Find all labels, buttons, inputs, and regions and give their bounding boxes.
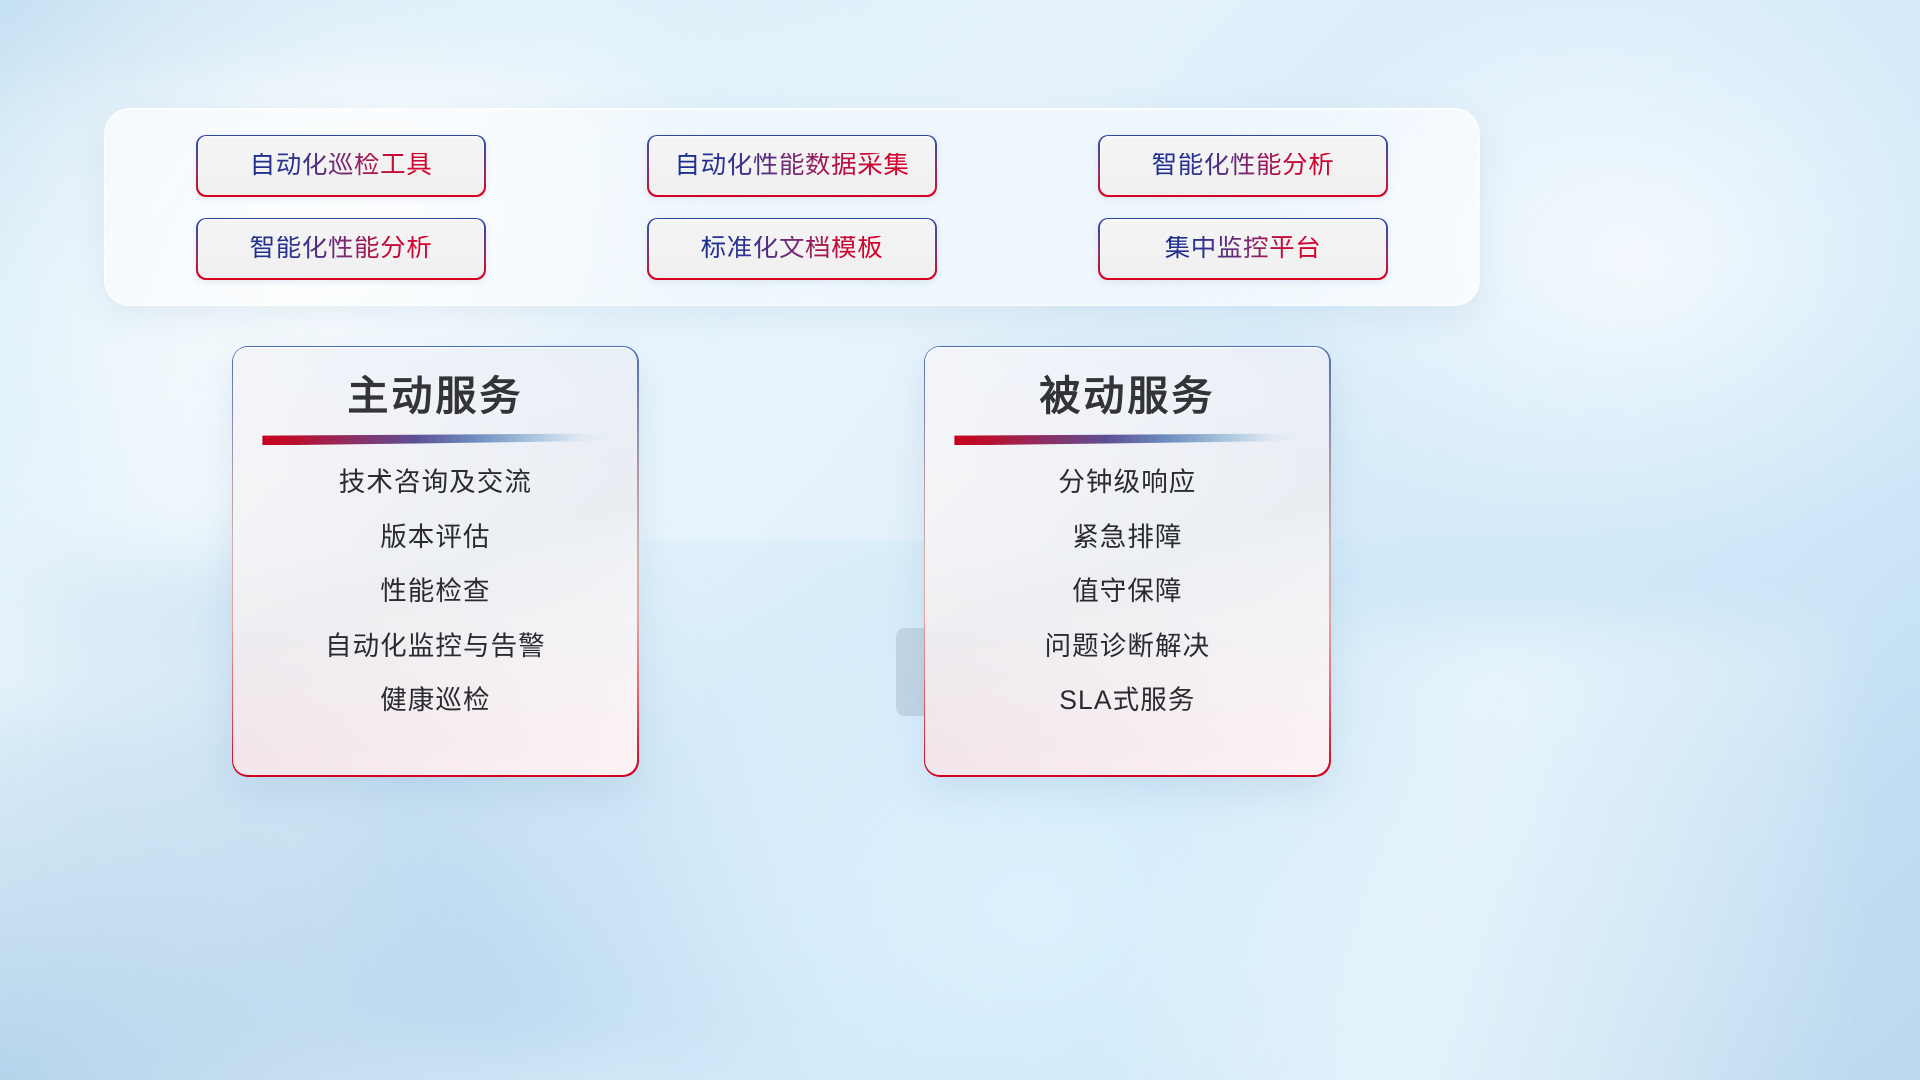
capability-tag-5-surface: 标准化文档模板 <box>649 219 936 278</box>
list-item: 健康巡检 <box>380 685 490 715</box>
list-item: 问题诊断解决 <box>1045 631 1211 661</box>
active-service-divider-bar <box>262 433 608 445</box>
capability-tag-2-label: 自动化性能数据采集 <box>675 153 910 179</box>
capability-tag-1-surface: 自动化巡检工具 <box>198 136 485 195</box>
list-item: 分钟级响应 <box>1058 467 1196 497</box>
passive-service-divider <box>954 433 1300 445</box>
capability-tag-2-surface: 自动化性能数据采集 <box>649 136 936 195</box>
active-service-card-surface: 主动服务 技术咨询及交流 版本评估 性能检查 自动化监控与告警 健康巡检 <box>233 347 637 775</box>
passive-service-divider-bar <box>954 433 1300 445</box>
active-service-divider <box>262 433 608 445</box>
list-item: SLA式服务 <box>1059 685 1195 715</box>
list-item: 性能检查 <box>380 576 490 606</box>
list-item: 版本评估 <box>380 522 490 552</box>
list-item: 值守保障 <box>1072 576 1182 606</box>
capability-tag-3-label: 智能化性能分析 <box>1152 153 1335 179</box>
capability-tag-6-label: 集中监控平台 <box>1165 236 1322 262</box>
capability-tag-4-label: 智能化性能分析 <box>250 236 433 262</box>
capability-tag-4-surface: 智能化性能分析 <box>198 219 485 278</box>
capability-tag-3-surface: 智能化性能分析 <box>1100 136 1387 195</box>
capability-tag-1[interactable]: 自动化巡检工具 <box>196 135 486 197</box>
active-service-card[interactable]: 主动服务 技术咨询及交流 版本评估 性能检查 自动化监控与告警 健康巡检 <box>232 346 639 777</box>
list-item: 紧急排障 <box>1072 522 1182 552</box>
capability-tag-3[interactable]: 智能化性能分析 <box>1098 135 1388 197</box>
capability-tag-4[interactable]: 智能化性能分析 <box>196 218 486 280</box>
list-item: 技术咨询及交流 <box>339 467 532 497</box>
passive-service-title: 被动服务 <box>1039 374 1215 419</box>
capability-tag-1-label: 自动化巡检工具 <box>250 153 433 179</box>
capability-tag-5[interactable]: 标准化文档模板 <box>647 218 937 280</box>
capability-tags-panel: 自动化巡检工具 自动化性能数据采集 智能化性能分析 智能化性能分析 标准化文档模… <box>104 108 1480 306</box>
capability-tag-6-surface: 集中监控平台 <box>1100 219 1387 278</box>
passive-service-card-surface: 被动服务 分钟级响应 紧急排障 值守保障 问题诊断解决 SLA式服务 <box>925 347 1329 775</box>
capability-tag-grid: 自动化巡检工具 自动化性能数据采集 智能化性能分析 智能化性能分析 标准化文档模… <box>196 135 1388 280</box>
capability-tag-2[interactable]: 自动化性能数据采集 <box>647 135 937 197</box>
capability-tag-6[interactable]: 集中监控平台 <box>1098 218 1388 280</box>
active-service-title: 主动服务 <box>347 374 523 419</box>
capability-tag-5-label: 标准化文档模板 <box>701 236 884 262</box>
active-service-list: 技术咨询及交流 版本评估 性能检查 自动化监控与告警 健康巡检 <box>233 467 637 715</box>
passive-service-list: 分钟级响应 紧急排障 值守保障 问题诊断解决 SLA式服务 <box>925 467 1329 715</box>
list-item: 自动化监控与告警 <box>325 631 546 661</box>
passive-service-card[interactable]: 被动服务 分钟级响应 紧急排障 值守保障 问题诊断解决 SLA式服务 <box>924 346 1331 777</box>
